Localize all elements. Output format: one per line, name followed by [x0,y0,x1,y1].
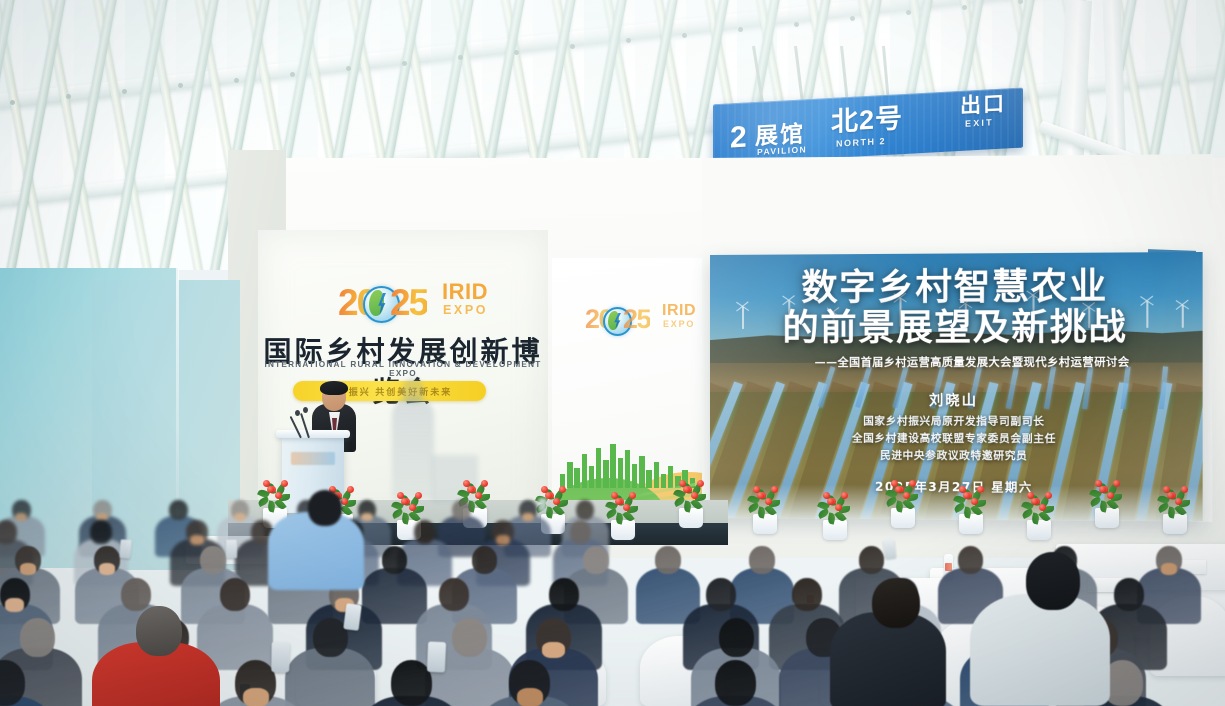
audience-head [472,546,498,574]
slide-affiliation-3: 民进中央参政议政特邀研究员 [710,447,1203,464]
gate-label-cn: 北2号 [831,105,903,136]
speaker-shadow-head [402,378,424,404]
audience-neck [243,688,269,706]
pot-flower [909,480,916,487]
pot-flower [1181,486,1188,493]
pot-vessel [1163,514,1187,534]
gate-label-en: NORTH 2 [836,137,886,149]
skyline-building [625,450,630,488]
audience-neck [190,535,204,545]
flower-pot [742,482,788,534]
skyline-building [661,474,666,488]
flower-pot [880,476,926,528]
audience-head [452,500,471,520]
sign-rod [794,46,804,104]
smartphone [226,539,237,558]
logo-subbrand-secondary: EXPO [663,320,695,329]
audience-head [792,578,822,611]
audience-head [200,546,226,574]
beam-bolt [514,50,519,55]
flower-pot [948,482,994,534]
pot-flower [1175,498,1182,505]
audience-head [382,546,408,574]
audience-head [570,520,592,544]
pot-flower [1107,492,1114,499]
white-shirt [970,594,1110,706]
audience-head [576,500,595,520]
pot-flower [1099,486,1106,493]
pot-flower [341,498,348,505]
audience-head [1026,552,1080,610]
pot-flower [963,492,970,499]
microphone-head [303,407,308,413]
slide-speaker-name: 刘晓山 [710,390,1203,411]
pot-flower [697,480,704,487]
pot-flower [1045,492,1052,499]
audience-head [414,520,436,544]
pot-flower [615,498,622,505]
pot-flower [559,486,566,493]
beam-bolt [682,33,687,38]
beam-bolt [850,16,855,21]
flower-pot [668,476,714,528]
pot-flower [409,504,416,511]
speaker-shadow [392,396,434,500]
pot-vessel [679,508,703,528]
pot-flower [1167,492,1174,499]
skyline-building [646,470,651,488]
audience-head [958,546,984,574]
audience-head [715,660,756,706]
skyline-building [639,456,644,488]
pot-flower [281,480,288,487]
audience-neck [20,563,36,575]
skyline-building [654,462,659,488]
audience-head [655,546,681,574]
audience-neck [361,513,373,522]
smartphone [272,642,290,673]
glass-pane [0,0,12,270]
exit-label-cn: 出口 [960,94,1006,117]
logo-brand-secondary: IRID [662,303,696,319]
audience-head [872,578,920,628]
pot-flower [275,492,282,499]
audience-head [313,618,348,657]
beam-bolt [234,78,239,83]
audience-neck [496,535,510,545]
beam-bolt [962,5,967,10]
audience-torso [285,648,375,706]
pot-flower [765,498,772,505]
logo-subbrand: EXPO [443,304,488,317]
audience-head [549,578,579,611]
pot-flower [623,504,630,511]
logo-brand: IRID [442,281,488,303]
pot-flower [841,492,848,499]
conference-hall-photo: 2 展馆 PAVILION 北2号 NORTH 2 出口 EXIT 20 25 … [0,0,1225,706]
pot-flower [415,492,422,499]
pot-flower [267,486,274,493]
audience-head [169,500,188,520]
microphone-head [295,410,300,416]
flower-pot [1016,488,1062,540]
exit-label-en: EXIT [965,118,994,129]
audience-head [452,618,487,657]
pot-flower [771,486,778,493]
pot-flower [757,492,764,499]
pot-flower [903,492,910,499]
pot-flower [467,486,474,493]
skyline-building [589,466,594,488]
audience-neck [234,513,246,522]
audience-neck [1161,563,1177,575]
skyline-building [610,444,615,488]
audience-neck [99,563,115,575]
pot-flower [481,480,488,487]
pot-flower [401,498,408,505]
smartphone [119,539,131,559]
pot-flower [1113,480,1120,487]
pot-vessel [611,520,635,540]
audience-head [0,520,17,544]
pot-vessel [959,514,983,534]
audience-neck [542,642,565,658]
expo-logo: 20 25 IRID EXPO [338,280,478,326]
smartphone [539,498,547,512]
skyline-building [596,448,601,488]
logo-year-second: 25 [390,284,427,321]
flower-pot [1084,476,1130,528]
podium-logo [291,452,335,465]
skyline-building [618,458,623,488]
audience-head [439,578,469,611]
pot-flower [835,504,842,511]
skyline-building [632,464,637,488]
sign-rod [752,46,764,104]
beam-bolt [626,38,631,43]
pot-vessel [823,520,847,540]
slide-affiliation-1: 国家乡村振兴局原开发指导司副司长 [710,413,1203,429]
pot-flower [827,498,834,505]
beam-bolt [570,44,575,49]
glass-pane [74,0,114,270]
pot-vessel [1095,508,1119,528]
flower-pot [1152,482,1198,534]
smartphone [883,539,896,559]
glass-pane [23,0,63,270]
pot-flower [971,498,978,505]
beam-bolt [122,89,127,94]
slide-title-line1: 数字乡村智慧农业 [710,267,1203,308]
audience-head [220,578,250,611]
audience-head [121,578,151,611]
beam-bolt [290,72,295,77]
sign-rod [840,46,849,104]
expo-logo-secondary: 20 25 IRID EXPO [585,303,689,337]
grey-hair-head [136,606,182,656]
pot-flower [629,492,636,499]
audience-head [308,490,342,526]
skyline-building [582,454,587,488]
smartphone [427,642,446,673]
audience-head [749,546,775,574]
speaker-hair [320,381,348,395]
audience-head [859,546,885,574]
beam-bolt [794,22,799,27]
audience-head [1114,578,1144,611]
pot-flower [895,486,902,493]
slide-subtitle: ——全国首届乡村运营高质量发展大会暨现代乡村运营研讨会 [750,353,1196,370]
audience-neck [522,513,534,522]
slide-affiliation-2: 全国乡村建设高校联盟专家委员会副主任 [710,430,1203,446]
pot-flower [475,492,482,499]
pot-flower [1031,498,1038,505]
pot-vessel [1027,520,1051,540]
beam-bolt [402,61,407,66]
slide-title-line2: 的前景展望及新挑战 [710,308,1203,348]
audience-head [90,520,112,544]
audience-neck [517,688,543,706]
pot-flower [1039,504,1046,511]
pot-flower [347,486,354,493]
flower-pot [812,488,858,540]
pot-flower [683,486,690,493]
audience-head [583,546,609,574]
audience-head [719,618,754,657]
logo-year-second-secondary: 25 [623,306,650,333]
backdrop-title-en: INTERNATIONAL RURAL INNOVATION & DEVELOP… [262,360,544,378]
podium-top [276,430,350,438]
pot-vessel [891,508,915,528]
skyline-building [603,460,608,488]
audience-head [706,578,736,611]
audience-neck [15,513,27,522]
pavilion-number: 2 [730,123,746,154]
audience-neck [5,598,24,612]
audience-head [20,618,55,657]
beam-bolt [10,100,15,105]
glass-pane [176,0,216,270]
pot-flower [553,498,560,505]
pot-vessel [753,514,777,534]
glass-pane [125,0,165,270]
pot-flower [977,486,984,493]
pot-flower [691,492,698,499]
pavilion-label-en: PAVILION [757,145,807,156]
